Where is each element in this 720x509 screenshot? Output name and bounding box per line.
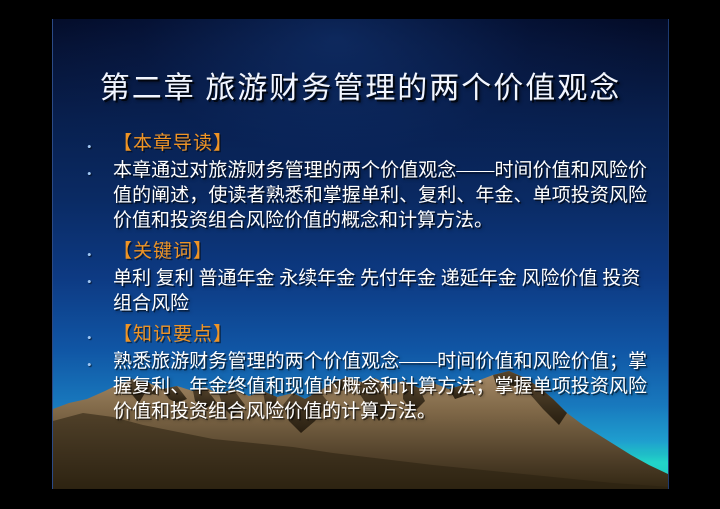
bullet-row-heading-3: 【知识要点】 (87, 322, 647, 347)
bullet-row-body-3: 熟悉旅游财务管理的两个价值观念——时间价值和风险价值；掌握复利、年金终值和现值的… (87, 349, 647, 424)
slide-title: 第二章 旅游财务管理的两个价值观念 (53, 63, 668, 107)
bullet-row-body-2: 单利 复利 普通年金 永续年金 先付年金 递延年金 风险价值 投资组合风险 (87, 266, 647, 316)
slide-body: 【本章导读】 本章通过对旅游财务管理的两个价值观念——时间价值和风险价值的阐述，… (87, 131, 647, 426)
presentation-slide: 第二章 旅游财务管理的两个价值观念 【本章导读】 本章通过对旅游财务管理的两个价… (52, 19, 669, 489)
section-body-guide: 本章通过对旅游财务管理的两个价值观念——时间价值和风险价值的阐述，使读者熟悉和掌… (113, 158, 647, 233)
bullet-row-heading-2: 【关键词】 (87, 239, 647, 264)
bullet-dot-icon (87, 158, 113, 180)
section-body-keypoints: 熟悉旅游财务管理的两个价值观念——时间价值和风险价值；掌握复利、年金终值和现值的… (113, 349, 647, 424)
section-heading-guide: 【本章导读】 (113, 131, 647, 156)
section-heading-keypoints: 【知识要点】 (113, 322, 647, 347)
bullet-dot-icon (87, 239, 113, 261)
bullet-dot-icon (87, 322, 113, 344)
bullet-dot-icon (87, 131, 113, 153)
section-heading-keywords: 【关键词】 (113, 239, 647, 264)
bullet-dot-icon (87, 266, 113, 288)
screenshot-canvas: 第二章 旅游财务管理的两个价值观念 【本章导读】 本章通过对旅游财务管理的两个价… (0, 0, 720, 509)
bullet-dot-icon (87, 349, 113, 371)
bullet-row-body-1: 本章通过对旅游财务管理的两个价值观念——时间价值和风险价值的阐述，使读者熟悉和掌… (87, 158, 647, 233)
section-body-keywords: 单利 复利 普通年金 永续年金 先付年金 递延年金 风险价值 投资组合风险 (113, 266, 647, 316)
bullet-row-heading-1: 【本章导读】 (87, 131, 647, 156)
